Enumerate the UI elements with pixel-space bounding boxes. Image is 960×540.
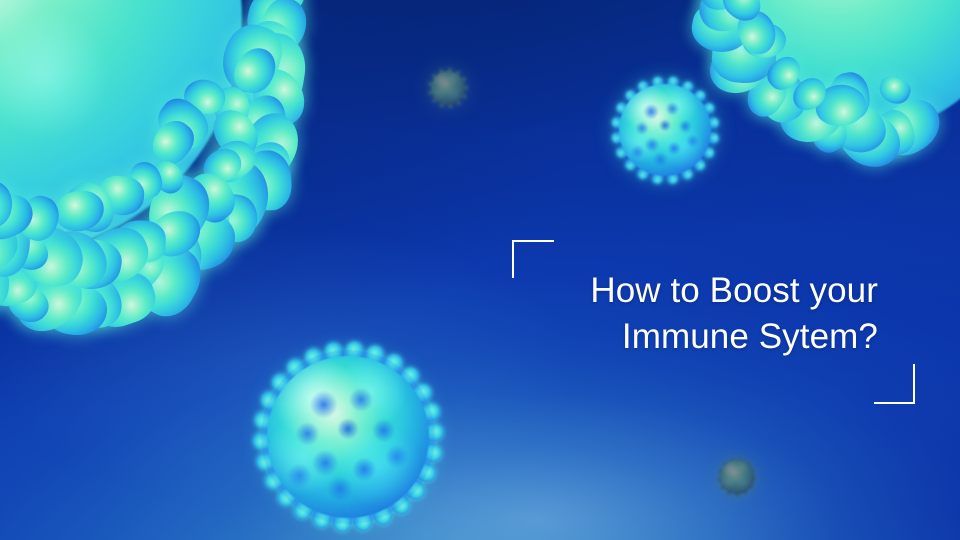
title-slide: How to Boost your Immune Sytem? xyxy=(0,0,960,540)
title-line-2: Immune Sytem? xyxy=(430,314,878,360)
title-line-1: How to Boost your xyxy=(430,268,878,314)
virus-rim-glow xyxy=(261,350,436,525)
coronavirus-particle-large xyxy=(267,356,429,518)
coronavirus-particle-small-bottom xyxy=(720,460,754,494)
bracket-vertical-arm xyxy=(913,364,915,404)
coronavirus-cell-top-left xyxy=(0,0,372,390)
bracket-horizontal-arm xyxy=(874,402,915,404)
bracket-horizontal-arm xyxy=(512,240,554,242)
virus-rim-glow xyxy=(615,80,714,179)
coronavirus-particle-medium xyxy=(619,84,711,176)
coronavirus-cell-top-right xyxy=(690,0,960,230)
slide-title: How to Boost your Immune Sytem? xyxy=(430,268,878,360)
coronavirus-particle-small-top xyxy=(431,71,465,105)
corner-bracket-bottom-right xyxy=(874,364,915,404)
